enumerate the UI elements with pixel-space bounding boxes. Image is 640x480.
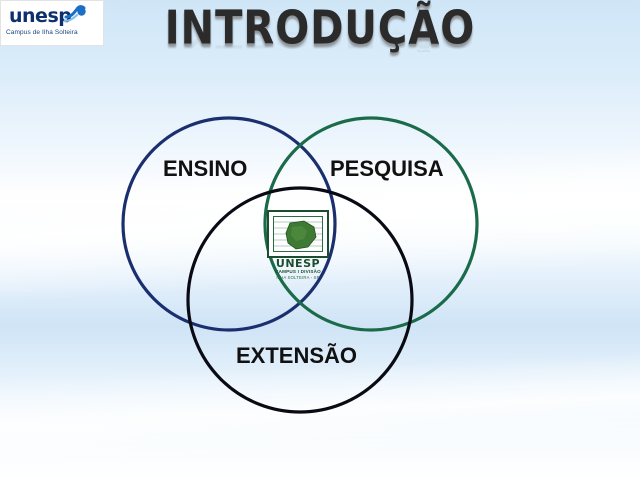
emblem-inner-border xyxy=(273,216,323,252)
venn-label-extensao: EXTENSÃO xyxy=(236,343,357,369)
emblem-map-icon xyxy=(274,217,323,252)
venn-label-ensino: ENSINO xyxy=(163,156,247,182)
unesp-wordmark: unesp xyxy=(9,5,71,27)
unesp-swoosh-icon xyxy=(64,4,86,24)
emblem-subtitle-1: CAMPUS I DIVISÃO xyxy=(267,269,329,274)
emblem-wordmark: UNESP xyxy=(267,258,329,269)
unesp-logo: unesp Campus de Ilha Solteira xyxy=(0,0,104,46)
emblem-subtitle-2: ILHA SOLTEIRA - SP xyxy=(267,275,329,280)
unesp-campus-label: Campus de Ilha Solteira xyxy=(6,29,78,36)
unesp-campus-emblem: UNESP CAMPUS I DIVISÃO ILHA SOLTEIRA - S… xyxy=(267,210,329,282)
slide-canvas: INTRODUÇÃO INTRODUÇÃO unesp Campus de Il… xyxy=(0,0,640,480)
venn-label-pesquisa: PESQUISA xyxy=(330,156,444,182)
emblem-frame xyxy=(267,210,329,258)
